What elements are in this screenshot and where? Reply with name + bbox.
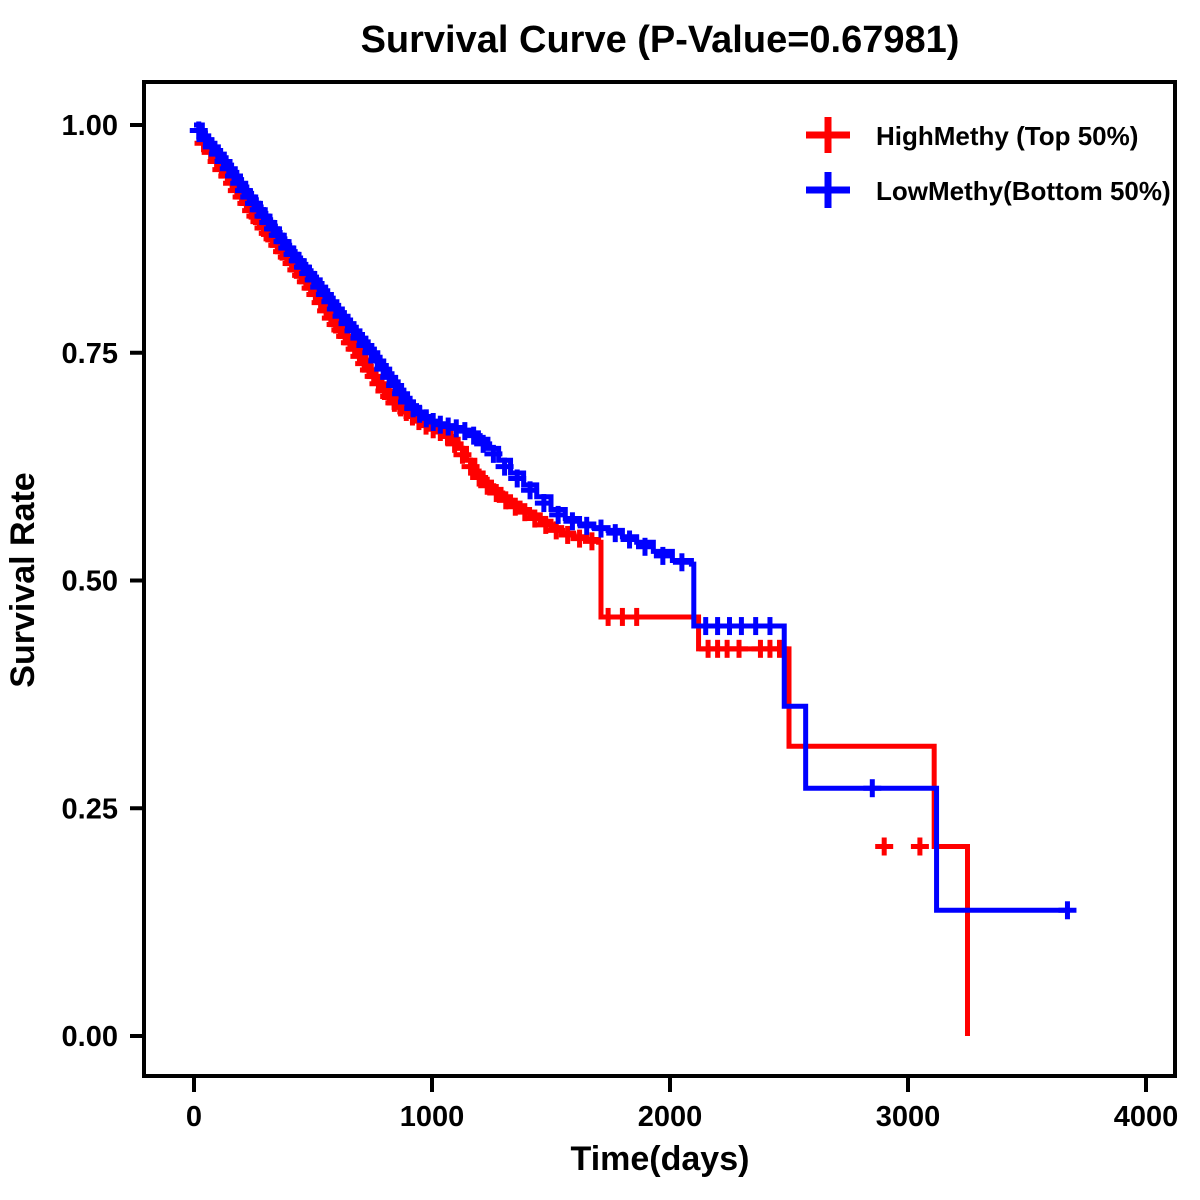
x-tick-label: 1000 bbox=[400, 1101, 465, 1133]
chart-title: Survival Curve (P-Value=0.67981) bbox=[361, 19, 960, 61]
y-axis-label: Survival Rate bbox=[4, 472, 42, 687]
y-tick-label: 0.75 bbox=[62, 338, 118, 370]
x-axis-label: Time(days) bbox=[571, 1140, 750, 1178]
y-tick-label: 0.50 bbox=[62, 566, 118, 598]
survival-curve-figure: Survival Curve (P-Value=0.67981) 0.000.2… bbox=[0, 0, 1200, 1200]
survival-plot-svg: Survival Curve (P-Value=0.67981) 0.000.2… bbox=[0, 0, 1200, 1200]
x-tick-label: 2000 bbox=[638, 1101, 703, 1133]
legend-label: LowMethy(Bottom 50%) bbox=[876, 176, 1171, 206]
x-tick-label: 3000 bbox=[876, 1101, 941, 1133]
x-tick-label: 4000 bbox=[1114, 1101, 1179, 1133]
x-tick-label: 0 bbox=[186, 1101, 202, 1133]
legend-label: HighMethy (Top 50%) bbox=[876, 121, 1138, 151]
y-tick-label: 0.00 bbox=[62, 1021, 118, 1053]
y-tick-label: 0.25 bbox=[62, 793, 118, 825]
y-tick-label: 1.00 bbox=[62, 110, 118, 142]
